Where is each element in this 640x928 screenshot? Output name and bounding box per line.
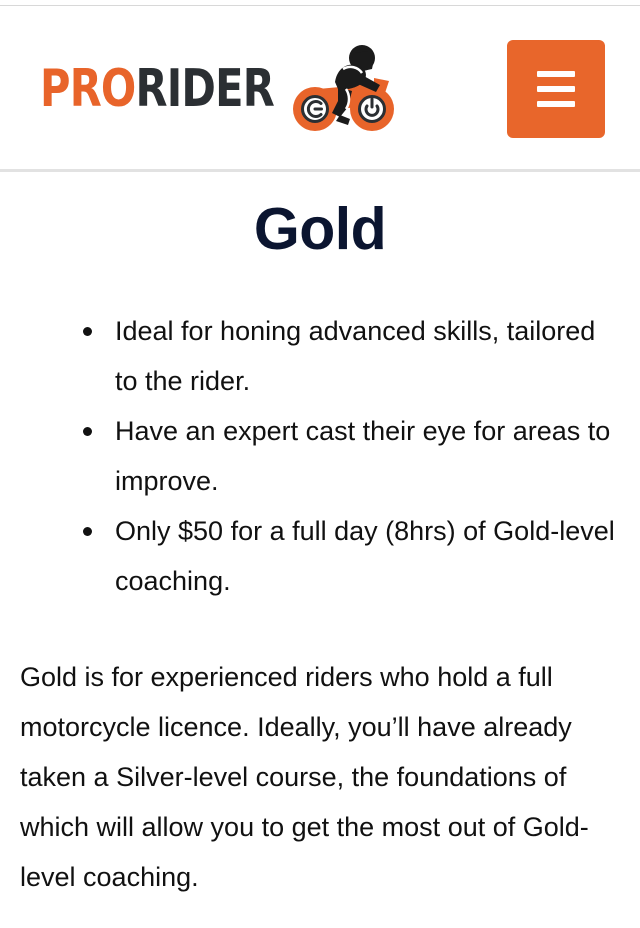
site-logo-link[interactable]: PRORIDER	[40, 46, 398, 132]
logo-text-rider: RIDER	[135, 59, 273, 119]
logo-text-pro: PRO	[40, 59, 135, 119]
logo-wordmark: PRORIDER	[40, 63, 274, 115]
bullet-icon	[83, 327, 92, 336]
hamburger-icon-bar-2	[537, 86, 575, 92]
hamburger-icon-bar-3	[537, 101, 575, 107]
bullet-icon	[83, 427, 92, 436]
motorcycle-rider-logo-icon	[288, 45, 398, 140]
list-item-text: Ideal for honing advanced skills, tailor…	[115, 316, 595, 396]
site-header: PRORIDER	[0, 6, 640, 172]
list-item-text: Have an expert cast their eye for areas …	[115, 416, 610, 496]
hamburger-menu-button[interactable]	[507, 40, 605, 138]
hamburger-icon-bar-1	[537, 71, 575, 77]
list-item: Ideal for honing advanced skills, tailor…	[72, 306, 618, 406]
feature-list: Ideal for honing advanced skills, tailor…	[0, 306, 640, 606]
list-item-text: Only $50 for a full day (8hrs) of Gold-l…	[115, 516, 615, 596]
header-inner: PRORIDER	[0, 6, 640, 169]
list-item: Have an expert cast their eye for areas …	[72, 406, 618, 506]
list-item: Only $50 for a full day (8hrs) of Gold-l…	[72, 506, 618, 606]
main-content: Gold Ideal for honing advanced skills, t…	[0, 172, 640, 902]
page-title: Gold	[0, 172, 640, 264]
body-paragraph: Gold is for experienced riders who hold …	[0, 652, 640, 902]
bullet-icon	[83, 527, 92, 536]
